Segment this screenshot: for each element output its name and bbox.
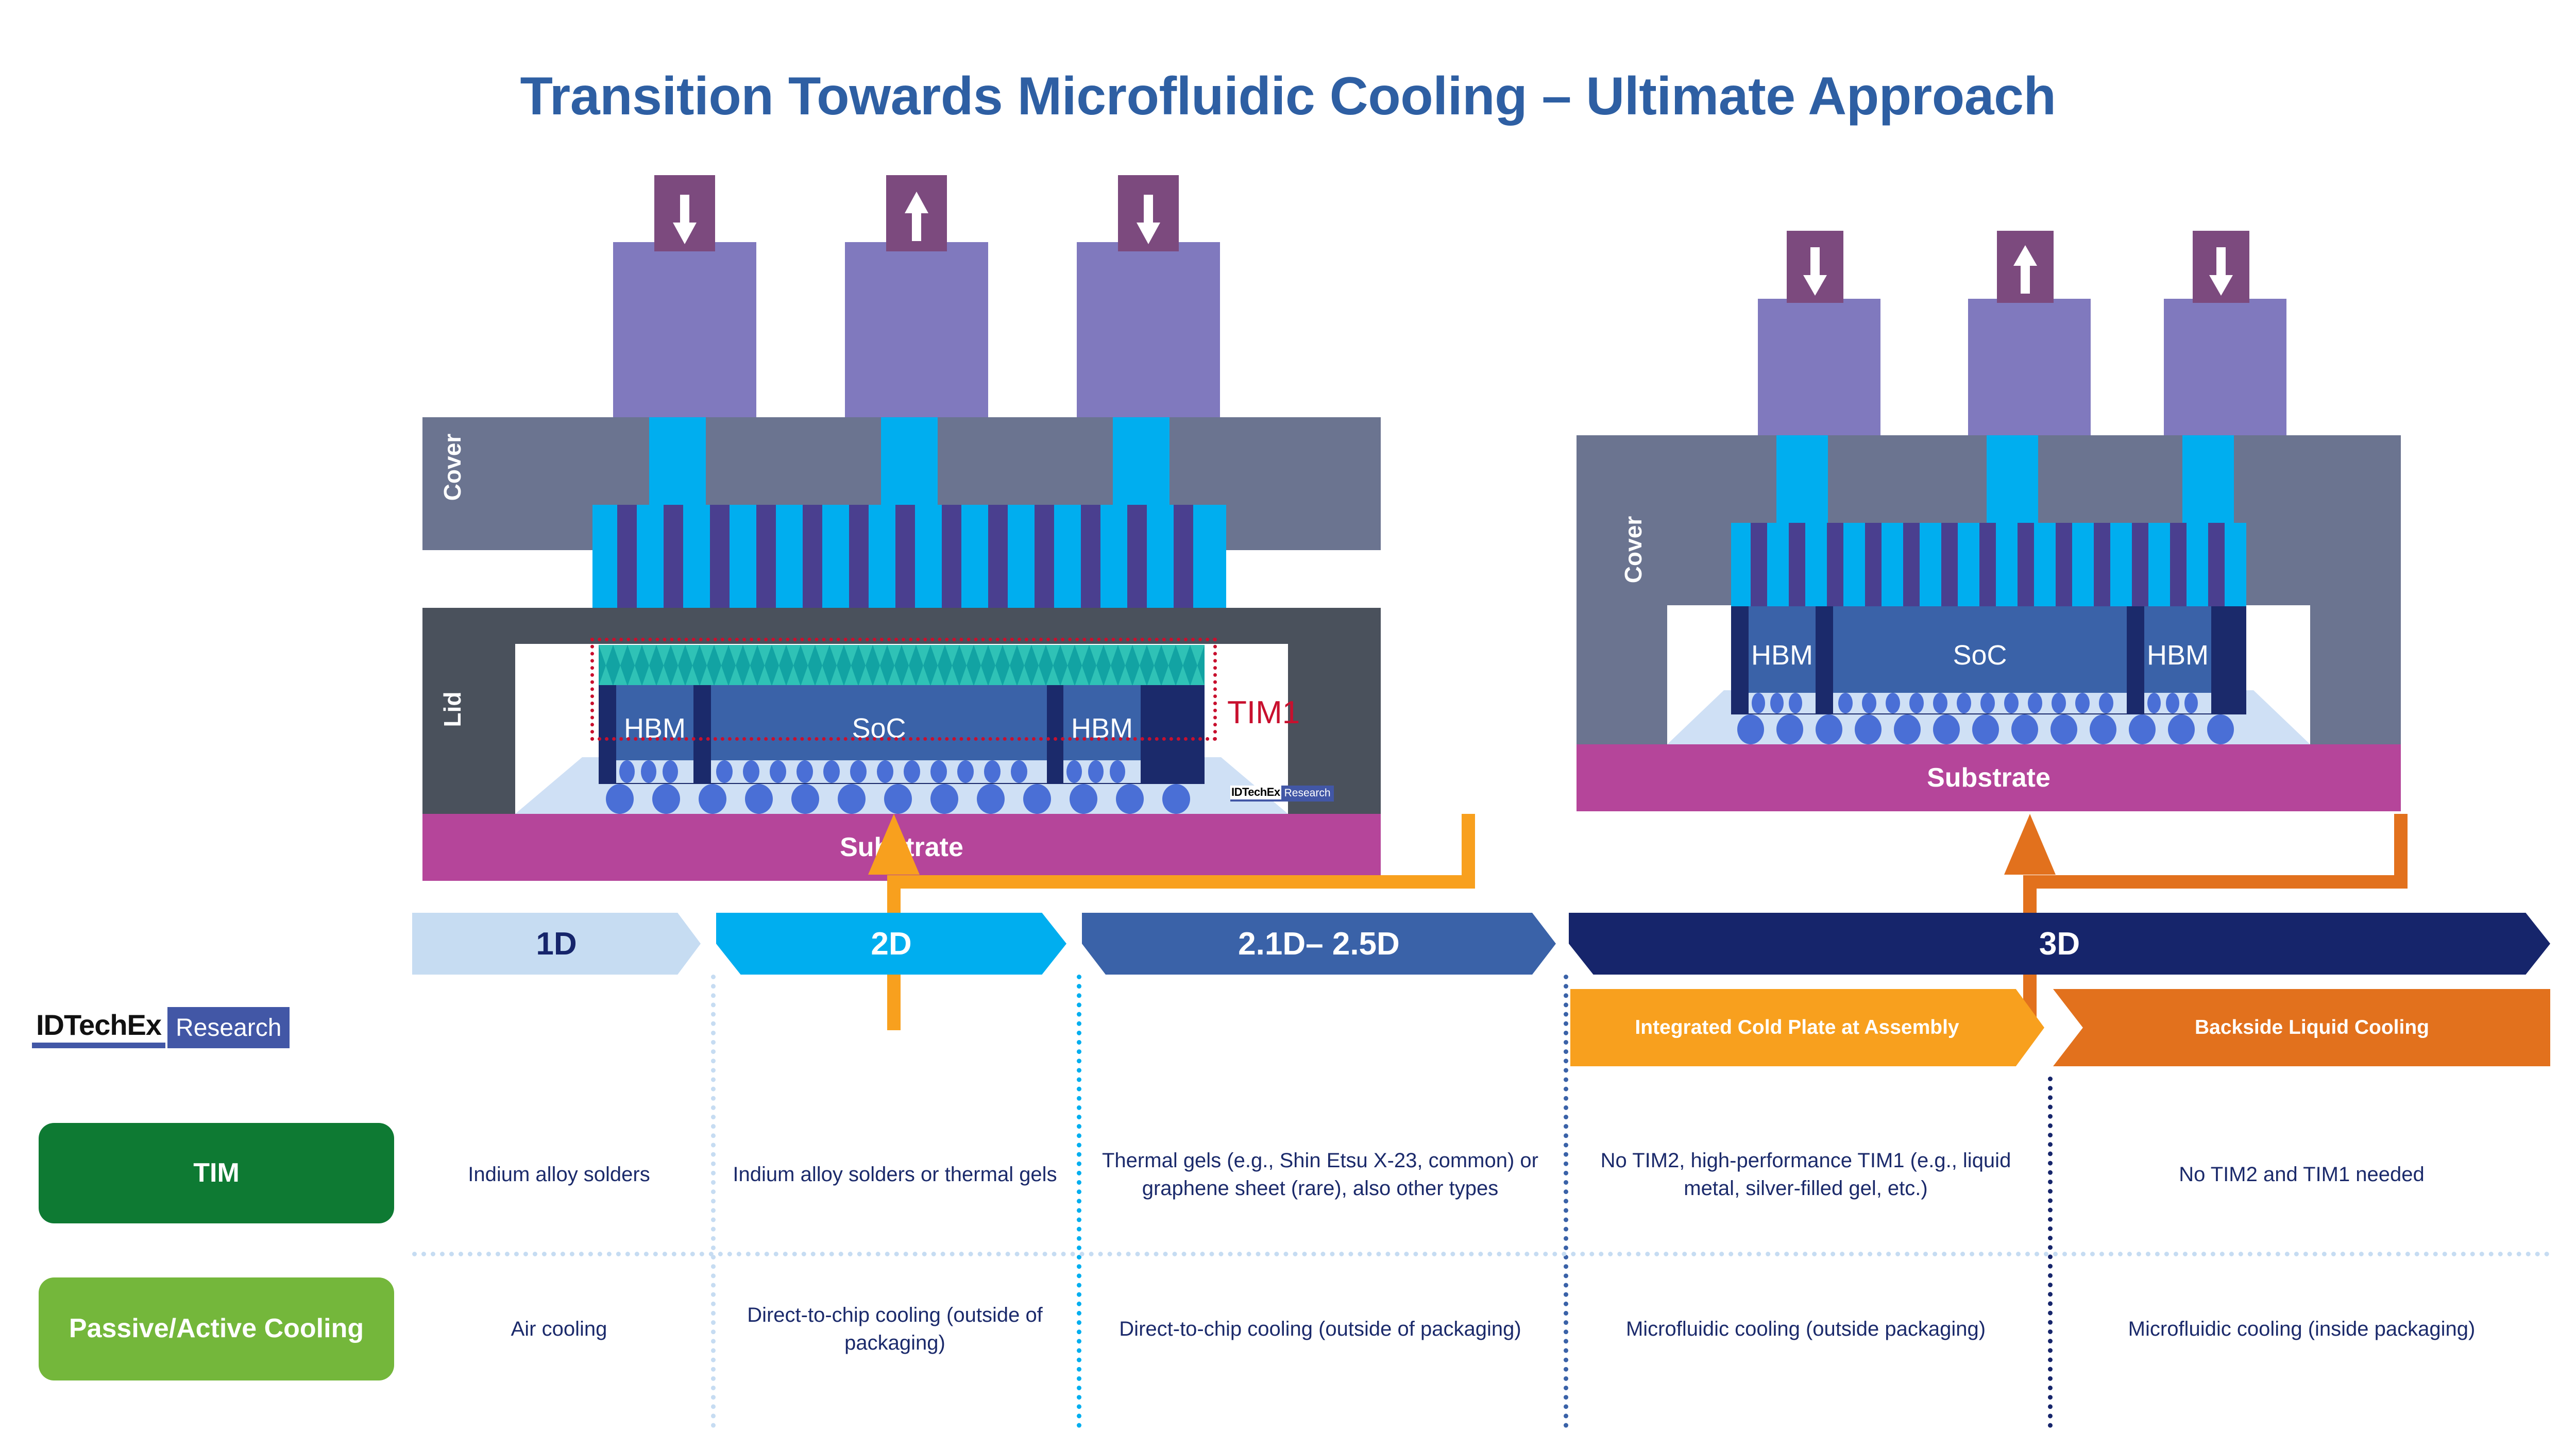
row-label-tim: TIM	[39, 1123, 394, 1223]
logo-mark: IDTechEx	[32, 1007, 165, 1048]
table-cell-tim-cold-plate: No TIM2, high-performance TIM1 (e.g., li…	[1569, 1113, 2043, 1236]
timeline-stage-1d[interactable]: 1D	[412, 913, 701, 975]
pipe-arrow-down-1	[654, 175, 715, 251]
pipe-body-inlet-2	[2164, 299, 2286, 435]
arrow-up-icon	[1997, 231, 2054, 303]
watermark-suffix: Research	[1281, 786, 1334, 802]
lid-label: Lid	[438, 668, 466, 751]
microbump-band-right	[1063, 760, 1141, 783]
cover-layer-left-wall	[1577, 605, 1667, 744]
pipe-arrow-up	[1997, 231, 2054, 303]
arrow-down-icon	[2193, 231, 2249, 303]
table-cell-tim-1d: Indium alloy solders	[412, 1123, 706, 1226]
c4-solder-band	[599, 784, 1205, 814]
pipe-arrow-down-2	[1118, 175, 1179, 251]
pipe-body-inlet-2	[1077, 242, 1220, 417]
timeline-stage-215d-label: 2.1D– 2.5D	[1238, 926, 1400, 962]
arrow-down-icon	[1787, 231, 1843, 303]
pipe-body-inlet-1	[1758, 299, 1880, 435]
timeline-substage-cold-plate[interactable]: Integrated Cold Plate at Assembly	[1570, 989, 2044, 1066]
table-cell-cooling-1d: Air cooling	[412, 1277, 706, 1380]
feed-channel-3	[2182, 435, 2234, 524]
timeline-stage-2d[interactable]: 2D	[716, 913, 1066, 975]
substrate-layer: Substrate	[1577, 744, 2401, 811]
table-cell-tim-backside: No TIM2 and TIM1 needed	[2053, 1123, 2550, 1226]
timeline-stage-3d[interactable]: 3D	[1569, 913, 2550, 975]
arrow-down-icon	[1118, 175, 1179, 251]
cover-label: Cover	[438, 426, 466, 508]
microbump-band-right	[2144, 693, 2211, 713]
row-label-passive-active-cooling: Passive/Active Cooling	[39, 1277, 394, 1380]
die-soc: SoC	[1833, 606, 2127, 704]
microbump-band-left	[616, 760, 693, 783]
row-divider	[412, 1252, 2550, 1256]
microbump-band-left	[1749, 693, 1816, 713]
page-title: Transition Towards Microfluidic Cooling …	[0, 66, 2576, 127]
watermark-mark: IDTechEx	[1230, 786, 1281, 802]
timeline-substage-backside-label: Backside Liquid Cooling	[2164, 1016, 2439, 1039]
tim1-callout-box	[590, 638, 1217, 741]
microbump-band-center	[711, 760, 1047, 783]
table-cell-tim-2d: Indium alloy solders or thermal gels	[717, 1123, 1073, 1226]
cover-label: Cover	[1619, 508, 1647, 591]
left-package-diagram: Cover Lid	[422, 175, 1381, 829]
timeline-substage-cold-plate-label: Integrated Cold Plate at Assembly	[1624, 1016, 1990, 1039]
fin-array	[592, 505, 1226, 608]
right-package-diagram: Cover HBM SoC HBM	[1577, 175, 2401, 829]
table-cell-cooling-2d: Direct-to-chip cooling (outside of packa…	[717, 1277, 1073, 1380]
table-cell-cooling-215d: Direct-to-chip cooling (outside of packa…	[1082, 1277, 1558, 1380]
column-divider-1	[711, 975, 716, 1428]
die-hbm-left: HBM	[1749, 606, 1816, 704]
feed-channel-2	[1987, 435, 2038, 524]
pipe-arrow-down-1	[1787, 231, 1843, 303]
timeline-substage-backside[interactable]: Backside Liquid Cooling	[2053, 989, 2550, 1066]
timeline-stage-215d[interactable]: 2.1D– 2.5D	[1082, 913, 1556, 975]
timeline-stage-1d-label: 1D	[536, 926, 577, 962]
table-cell-cooling-cold-plate: Microfluidic cooling (outside packaging)	[1569, 1277, 2043, 1380]
microbump-band-center	[1833, 693, 2127, 713]
logo-suffix: Research	[167, 1007, 290, 1048]
cover-layer-right-wall	[2310, 605, 2401, 744]
arrow-down-icon	[654, 175, 715, 251]
pipe-body-outlet	[845, 242, 988, 417]
column-divider-3	[1564, 975, 1568, 1428]
arrow-up-icon	[886, 175, 947, 251]
pipe-arrow-up	[886, 175, 947, 251]
die-hbm-right: HBM	[2144, 606, 2211, 704]
table-cell-cooling-backside: Microfluidic cooling (inside packaging)	[2053, 1277, 2550, 1380]
table-cell-tim-215d: Thermal gels (e.g., Shin Etsu X-23, comm…	[1082, 1113, 1558, 1236]
diagram-watermark: IDTechEx Research	[1230, 782, 1334, 805]
feed-channel-1	[1776, 435, 1828, 524]
column-divider-2	[1077, 975, 1081, 1428]
fin-array	[1731, 523, 2246, 606]
timeline-stage-2d-label: 2D	[871, 926, 911, 962]
pipe-body-outlet	[1968, 299, 2091, 435]
idtechex-logo: IDTechEx Research	[32, 1007, 290, 1048]
tim1-label: TIM1	[1227, 694, 1300, 731]
timeline-stage-3d-label: 3D	[2039, 926, 2080, 962]
pipe-arrow-down-2	[2193, 231, 2249, 303]
c4-solder-band	[1731, 714, 2246, 744]
pipe-body-inlet-1	[613, 242, 756, 417]
